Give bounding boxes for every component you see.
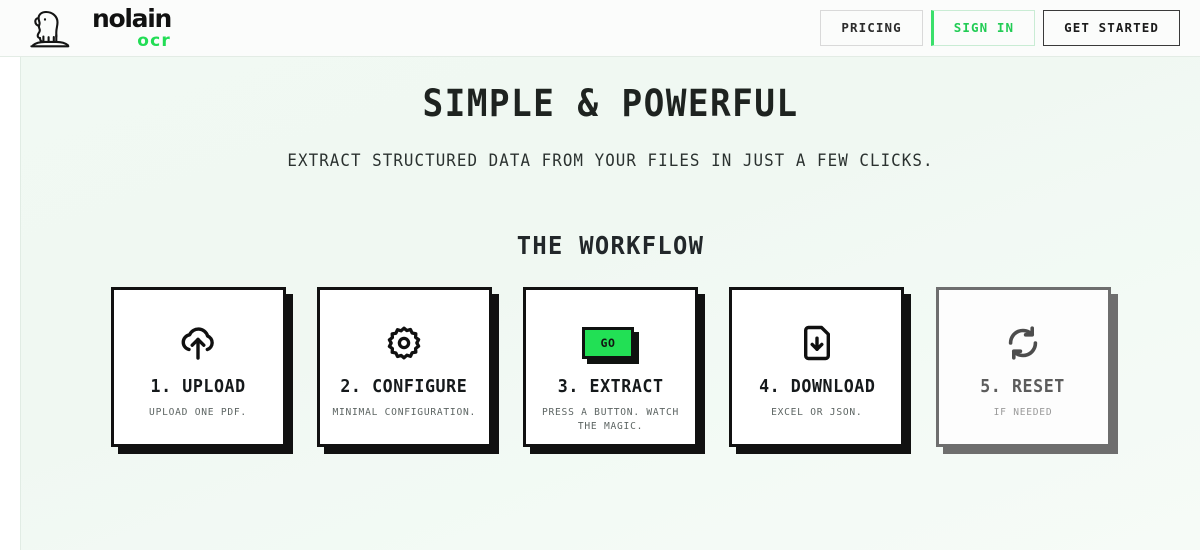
card-title: 2. CONFIGURE: [341, 378, 468, 397]
cloud-upload-icon: [178, 312, 218, 374]
card-description: EXCEL OR JSON.: [763, 406, 870, 420]
brand-logo[interactable]: nolain ocr: [28, 6, 171, 50]
gear-icon: [386, 312, 422, 374]
go-button[interactable]: GO: [582, 327, 634, 359]
workflow-steps: 1. UPLOAD UPLOAD ONE PDF. 2. CONFIGURE M…: [111, 260, 1111, 447]
page-title: SIMPLE & POWERFUL: [62, 57, 1158, 125]
page-subtitle: EXTRACT STRUCTURED DATA FROM YOUR FILES …: [45, 125, 1177, 171]
file-download-icon: [800, 312, 834, 374]
card-description: IF NEEDED: [986, 406, 1061, 420]
brand-name: nolain: [92, 6, 171, 31]
sign-in-button[interactable]: SIGN IN: [931, 10, 1035, 46]
workflow-card-configure[interactable]: 2. CONFIGURE MINIMAL CONFIGURATION.: [317, 287, 492, 447]
workflow-card-reset[interactable]: 5. RESET IF NEEDED: [936, 287, 1111, 447]
card-title: 5. RESET: [981, 378, 1066, 397]
workflow-section-title: THE WORKFLOW: [50, 170, 1170, 260]
elephant-icon: [28, 6, 80, 50]
wordmark: nolain ocr: [92, 6, 171, 50]
card-description: MINIMAL CONFIGURATION.: [324, 406, 484, 420]
brand-product: ocr: [137, 33, 171, 50]
refresh-icon: [1005, 312, 1041, 374]
site-header: nolain ocr PRICING SIGN IN GET STARTED: [0, 0, 1200, 57]
workflow-card-download[interactable]: 4. DOWNLOAD EXCEL OR JSON.: [729, 287, 904, 447]
card-title: 1. UPLOAD: [150, 378, 245, 397]
pricing-button[interactable]: PRICING: [820, 10, 922, 46]
landing-page: nolain ocr PRICING SIGN IN GET STARTED S…: [0, 0, 1200, 550]
go-button-wrapper: GO: [582, 312, 639, 374]
workflow-card-extract[interactable]: GO 3. EXTRACT PRESS A BUTTON. WATCH THE …: [523, 287, 698, 447]
card-description: PRESS A BUTTON. WATCH THE MAGIC.: [526, 406, 695, 434]
get-started-button[interactable]: GET STARTED: [1043, 10, 1180, 46]
card-title: 4. DOWNLOAD: [759, 378, 875, 397]
header-nav: PRICING SIGN IN GET STARTED: [820, 10, 1180, 46]
card-title: 3. EXTRACT: [558, 378, 664, 397]
main-panel: SIMPLE & POWERFUL EXTRACT STRUCTURED DAT…: [20, 57, 1200, 550]
workflow-card-upload[interactable]: 1. UPLOAD UPLOAD ONE PDF.: [111, 287, 286, 447]
card-description: UPLOAD ONE PDF.: [141, 406, 255, 420]
